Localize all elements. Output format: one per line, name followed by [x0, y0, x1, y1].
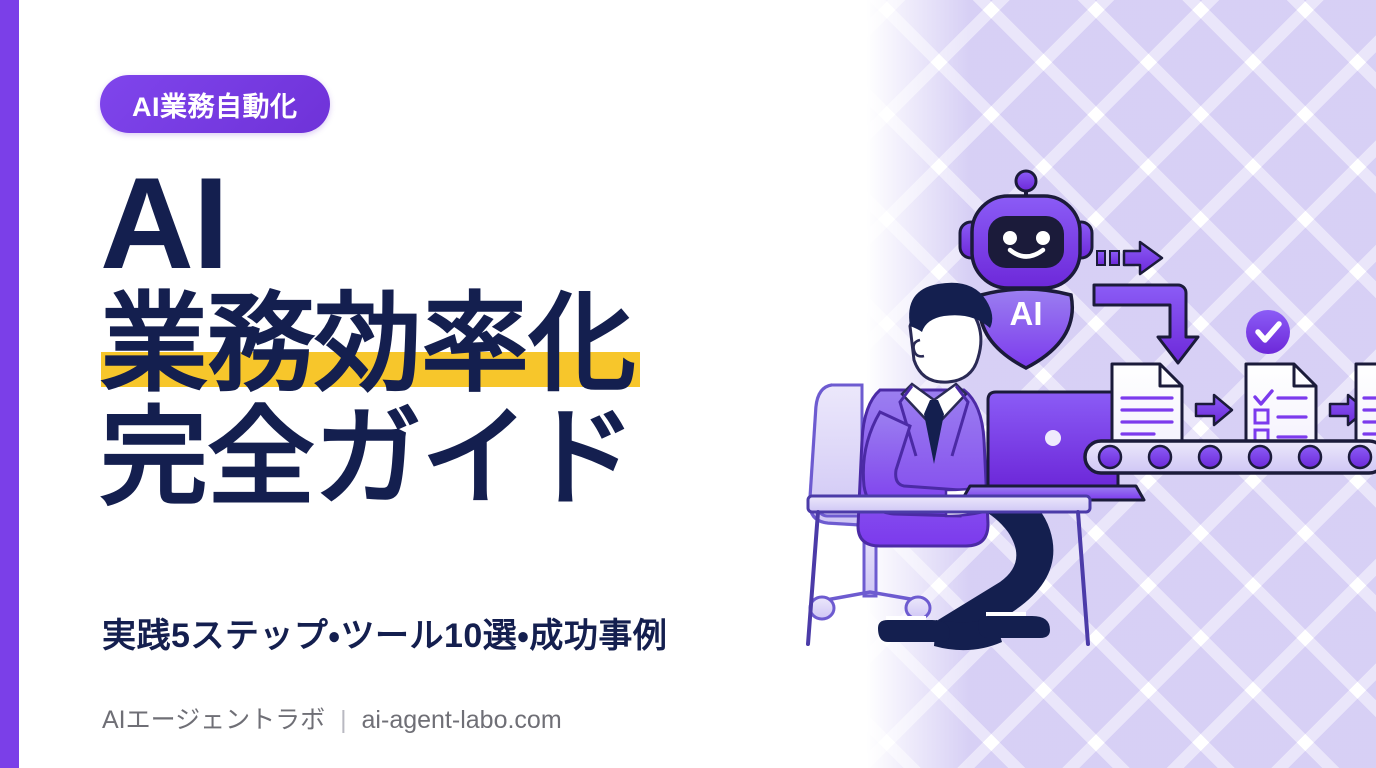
poster-canvas: AI業務自動化 AI 業務効率化 完全ガイド 実践5ステップ・ツール10選・成功…	[0, 0, 1376, 768]
footer-separator: |	[332, 706, 355, 734]
pipeline-arrow-icon	[1196, 395, 1232, 425]
page-title: AI 業務効率化 完全ガイド	[100, 160, 800, 511]
footer-credit: AIエージェントラボ | ai-agent-labo.com	[102, 700, 562, 736]
dashed-arrow-icon	[1097, 242, 1162, 274]
footer-brand: AIエージェントラボ	[102, 706, 325, 734]
illustration: AI	[760, 0, 1376, 768]
category-badge-label: AI業務自動化	[132, 85, 298, 124]
headline-line-2-text: 業務効率化	[100, 283, 635, 404]
headline-line-1: AI	[100, 160, 800, 287]
text-column: AI業務自動化 AI 業務効率化 完全ガイド 実践5ステップ・ツール10選・成功…	[100, 0, 800, 768]
conveyor-belt	[1085, 441, 1376, 473]
subtitle: 実践5ステップ・ツール10選・成功事例	[102, 608, 667, 657]
headline-line-3: 完全ガイド	[100, 405, 800, 511]
category-badge: AI業務自動化	[100, 75, 330, 133]
check-circle-icon	[1246, 310, 1290, 354]
left-accent-bar	[0, 0, 19, 768]
robot-body-label: AI	[1010, 295, 1043, 332]
elbow-arrow-icon	[1094, 285, 1198, 363]
footer-site: ai-agent-labo.com	[362, 706, 562, 734]
headline-line-2: 業務効率化	[100, 291, 635, 397]
